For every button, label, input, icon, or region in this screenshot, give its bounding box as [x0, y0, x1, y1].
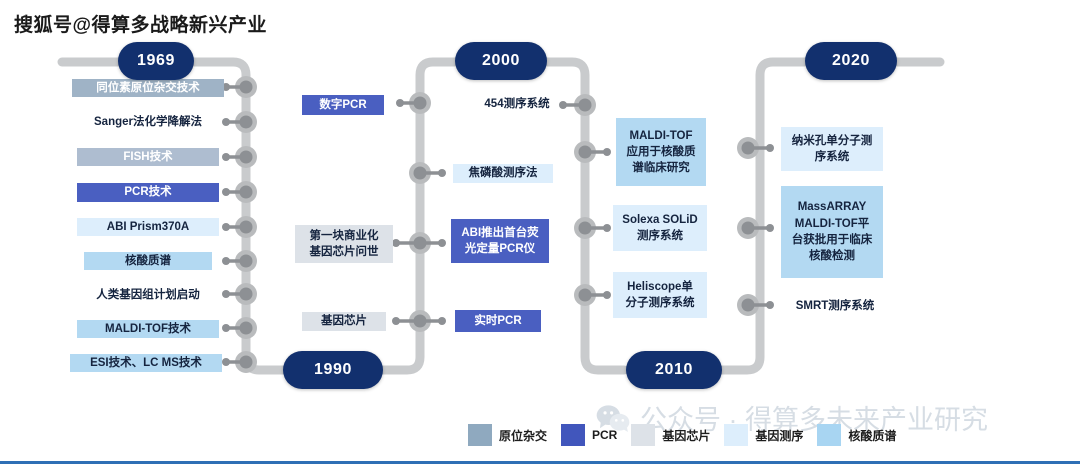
- year-badge-1969[interactable]: 1969: [118, 42, 194, 80]
- year-label: 2010: [655, 361, 693, 379]
- event-chip[interactable]: MALDI-TOF技术: [77, 320, 219, 338]
- event-chip[interactable]: 焦磷酸测序法: [453, 164, 553, 183]
- year-label: 2020: [832, 52, 870, 70]
- event-chip[interactable]: ABI Prism370A: [77, 218, 219, 236]
- event-chip[interactable]: 第一块商业化 基因芯片问世: [295, 225, 393, 263]
- event-label-line: 序系统: [815, 149, 850, 165]
- legend-label: 核酸质谱: [848, 427, 896, 444]
- year-badge-2000[interactable]: 2000: [455, 42, 547, 80]
- event-label-line: ABI推出首台荧: [461, 225, 538, 241]
- event-label-line: ESI技术、LC MS技术: [90, 355, 202, 371]
- event-label-line: 基因芯片问世: [310, 244, 379, 260]
- event-label-line: 台获批用于临床: [792, 232, 873, 248]
- legend-label: 原位杂交: [499, 427, 547, 444]
- event-label-line: 实时PCR: [474, 313, 521, 329]
- year-label: 1969: [137, 52, 175, 70]
- event-label-line: 数字PCR: [319, 97, 366, 113]
- event-label-line: ABI Prism370A: [107, 219, 189, 235]
- event-chip[interactable]: 核酸质谱: [84, 252, 212, 270]
- event-label-line: MassARRAY: [798, 199, 867, 215]
- event-label-line: 谱临床研究: [632, 160, 690, 176]
- event-label-line: 454测序系统: [484, 96, 549, 112]
- event-label-line: 纳米孔单分子测: [792, 133, 873, 149]
- event-chip[interactable]: 数字PCR: [302, 95, 384, 115]
- event-label-line: MALDI-TOF平: [795, 216, 870, 232]
- event-chip[interactable]: Sanger法化学降解法: [70, 113, 226, 131]
- event-chip[interactable]: 基因芯片: [302, 312, 386, 331]
- legend-item-genechip[interactable]: 基因芯片: [631, 424, 710, 446]
- event-chip[interactable]: MassARRAY MALDI-TOF平 台获批用于临床 核酸检测: [781, 186, 883, 278]
- timeline-infographic: 搜狐号@得算多战略新兴产业: [0, 0, 1080, 464]
- event-chip[interactable]: 纳米孔单分子测 序系统: [781, 127, 883, 171]
- event-chip[interactable]: 同位素原位杂交技术: [72, 79, 224, 97]
- event-label-line: 分子测序系统: [626, 295, 695, 311]
- legend-item-pcr[interactable]: PCR: [561, 424, 617, 446]
- event-label-line: 第一块商业化: [310, 228, 379, 244]
- event-label-line: Solexa SOLiD: [622, 212, 697, 228]
- event-label-line: 核酸质谱: [125, 253, 171, 269]
- event-chip[interactable]: Solexa SOLiD 测序系统: [613, 205, 707, 251]
- legend-label: PCR: [592, 428, 617, 442]
- event-label-line: 焦磷酸测序法: [469, 165, 538, 181]
- event-label-line: PCR技术: [124, 184, 171, 200]
- event-label-line: 测序系统: [637, 228, 683, 244]
- event-chip[interactable]: SMRT测序系统: [781, 297, 889, 315]
- event-label-line: 光定量PCR仪: [465, 241, 535, 257]
- legend: 原位杂交 PCR 基因芯片 基因测序 核酸质谱: [468, 424, 896, 446]
- event-label-line: 基因芯片: [321, 313, 367, 329]
- event-label-line: Sanger法化学降解法: [94, 114, 202, 130]
- event-label-line: MALDI-TOF技术: [105, 321, 191, 337]
- event-label-line: SMRT测序系统: [796, 298, 875, 314]
- legend-swatch: [631, 424, 655, 446]
- year-badge-2020[interactable]: 2020: [805, 42, 897, 80]
- event-chip[interactable]: 人类基因组计划启动: [72, 286, 224, 304]
- year-label: 1990: [314, 361, 352, 379]
- legend-swatch: [561, 424, 585, 446]
- node-group-col1: [222, 76, 257, 373]
- event-label-line: MALDI-TOF: [629, 128, 692, 144]
- legend-swatch: [724, 424, 748, 446]
- legend-label: 基因芯片: [662, 427, 710, 444]
- event-label-line: FISH技术: [123, 149, 172, 165]
- event-chip[interactable]: MALDI-TOF 应用于核酸质 谱临床研究: [616, 118, 706, 186]
- year-badge-1990[interactable]: 1990: [283, 351, 383, 389]
- event-chip[interactable]: ABI推出首台荧 光定量PCR仪: [451, 219, 549, 263]
- event-chip[interactable]: Heliscope单 分子测序系统: [613, 272, 707, 318]
- event-label-line: 核酸检测: [809, 248, 855, 264]
- legend-swatch: [817, 424, 841, 446]
- legend-item-sequencing[interactable]: 基因测序: [724, 424, 803, 446]
- year-label: 2000: [482, 52, 520, 70]
- event-label-line: 应用于核酸质: [627, 144, 696, 160]
- event-chip[interactable]: ESI技术、LC MS技术: [70, 354, 222, 372]
- event-label-line: 同位素原位杂交技术: [96, 80, 200, 96]
- event-chip[interactable]: FISH技术: [77, 148, 219, 166]
- year-badge-2010[interactable]: 2010: [626, 351, 722, 389]
- legend-label: 基因测序: [755, 427, 803, 444]
- event-chip[interactable]: 实时PCR: [455, 310, 541, 332]
- event-label-line: Heliscope单: [627, 279, 693, 295]
- legend-item-insitu[interactable]: 原位杂交: [468, 424, 547, 446]
- event-chip[interactable]: PCR技术: [77, 183, 219, 202]
- legend-item-massspec[interactable]: 核酸质谱: [817, 424, 896, 446]
- event-label-line: 人类基因组计划启动: [96, 287, 200, 303]
- event-chip[interactable]: 454测序系统: [469, 95, 565, 113]
- legend-swatch: [468, 424, 492, 446]
